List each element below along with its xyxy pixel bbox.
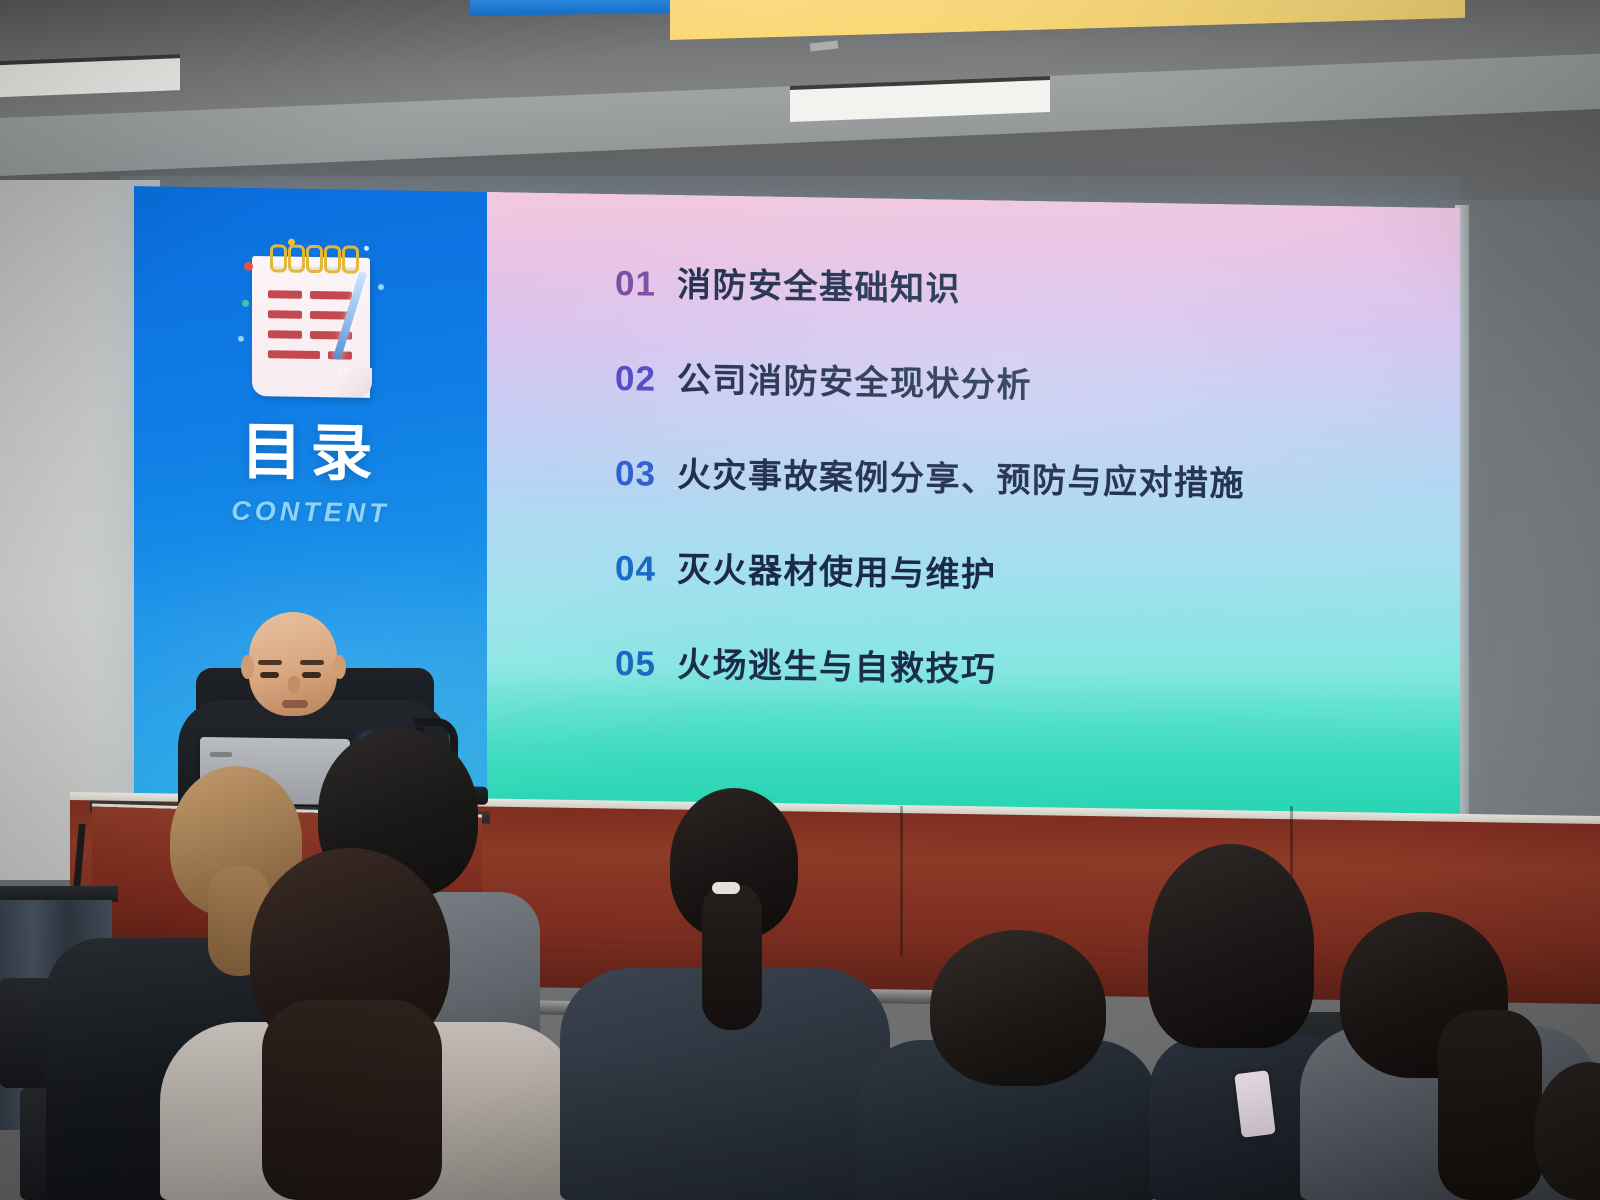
presenter-eye [302, 672, 321, 678]
toc-item: 04 灭火器材使用与维护 [615, 541, 1430, 604]
toc-label: 火灾事故案例分享、预防与应对措施 [677, 447, 1245, 505]
ponytail [1438, 1010, 1542, 1200]
toc-item: 01 消防安全基础知识 [615, 256, 1430, 319]
toc-label: 灭火器材使用与维护 [677, 542, 997, 596]
hair [930, 930, 1106, 1086]
presenter-eye [260, 672, 279, 678]
hair [1148, 844, 1314, 1048]
conference-room-photo: 目录 CONTENT 01 消防安全基础知识 02 公司消防安全现状分析 03 [0, 0, 1600, 1200]
presenter-mouth [282, 700, 308, 708]
toc-label: 火场逃生与自救技巧 [677, 637, 997, 691]
toc-item: 05 火场逃生与自救技巧 [615, 636, 1430, 699]
toc-number: 03 [615, 454, 677, 495]
ponytail [702, 884, 762, 1030]
toc-label: 公司消防安全现状分析 [677, 352, 1032, 407]
presenter-brow [300, 660, 324, 665]
laptop-hinge [210, 752, 232, 757]
ponytail [262, 1000, 442, 1200]
hair-tie [712, 882, 740, 894]
slide-subtitle: CONTENT [231, 496, 390, 530]
presenter-nose [288, 676, 300, 694]
toc-number: 04 [615, 549, 677, 590]
presenter-brow [258, 660, 282, 665]
toc-number: 01 [615, 264, 677, 305]
notepad-icon [236, 240, 386, 410]
toc-item: 02 公司消防安全现状分析 [615, 351, 1430, 414]
toc-list: 01 消防安全基础知识 02 公司消防安全现状分析 03 火灾事故案例分享、预防… [615, 256, 1430, 745]
toc-item: 03 火灾事故案例分享、预防与应对措施 [615, 446, 1430, 509]
wainscot-seam [900, 806, 903, 956]
toc-label: 消防安全基础知识 [677, 257, 961, 311]
slide-title: 目录 [240, 422, 380, 486]
toc-number: 02 [615, 359, 677, 400]
slide-content-panel: 01 消防安全基础知识 02 公司消防安全现状分析 03 火灾事故案例分享、预防… [487, 192, 1460, 830]
presenter-ear [333, 655, 346, 679]
toc-number: 05 [615, 644, 677, 685]
presenter-ear [241, 655, 254, 679]
